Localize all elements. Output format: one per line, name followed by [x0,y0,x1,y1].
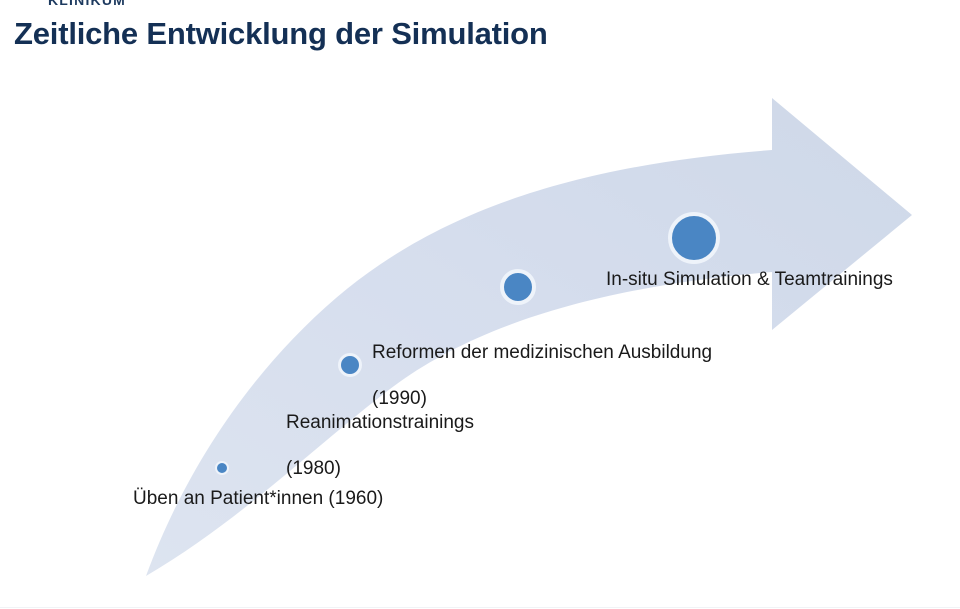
milestone-marker-1980[interactable] [338,353,362,377]
milestone-marker-1960[interactable] [215,461,229,475]
milestone-label-insitu: In-situ Simulation & Teamtrainings [606,268,893,291]
milestone-label-1990-line2: (1990) [372,387,712,410]
milestone-label-1990-line1: Reformen der medizinischen Ausbildung [372,341,712,364]
milestone-label-1980-line2: (1980) [286,457,474,480]
bottom-divider [0,607,960,608]
growth-arrow-graphic [0,0,960,609]
milestone-marker-insitu[interactable] [668,212,720,264]
milestone-label-1990: Reformen der medizinischen Ausbildung (1… [372,318,712,433]
slide-canvas: KLINIKUM Zeitliche Entwicklung der Simul… [0,0,960,609]
milestone-marker-1990[interactable] [500,269,536,305]
